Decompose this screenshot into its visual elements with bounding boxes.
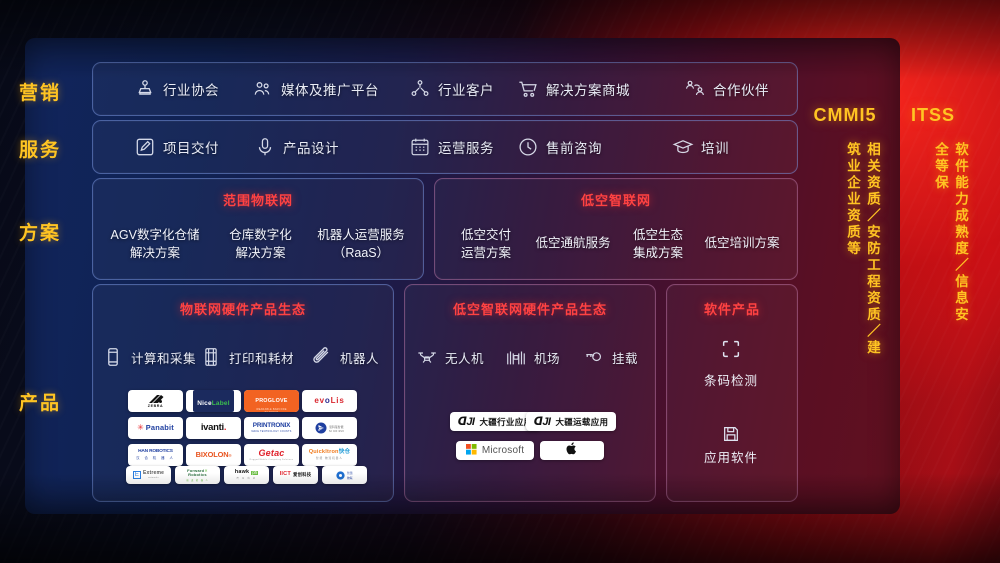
service-item-operation-service[interactable]: 运营服务 (409, 136, 494, 158)
product-item-label: 机器人 (340, 348, 379, 367)
service-item-project-delivery[interactable]: 项目交付 (134, 136, 219, 158)
solution-item[interactable]: 低空生态 集成方案 (620, 226, 696, 262)
partner-logo[interactable]: HAN ROBOTICS汉 合 机 器 人 (128, 444, 183, 466)
certification-title: CMMI5 (808, 105, 882, 126)
partner-logo[interactable]: ✳Panabit (128, 417, 183, 439)
partner-logo[interactable]: Forward✕Robotics前 进 机 器 人 (175, 466, 220, 484)
certification-vertical-text: 软件能力成熟度／信息安全等保 (896, 142, 970, 332)
service-item-presale-consulting[interactable]: 售前咨询 (517, 136, 602, 158)
service-item-label: 售前咨询 (546, 137, 602, 157)
shopping-cart-icon (517, 78, 539, 100)
product-group-software: 软件产品 (666, 284, 798, 502)
product-group-title: 低空智联网硬件产品生态 (405, 299, 655, 318)
handshake-icon (684, 78, 706, 100)
solution-group-title: 范围物联网 (93, 190, 423, 209)
airport-icon (505, 346, 527, 368)
partner-logo[interactable]: NiceLabel (186, 390, 241, 412)
microsoft-label: Microsoft (482, 445, 524, 456)
partner-logo[interactable]: Quickltron快仓智能 物流机器人 (302, 444, 357, 466)
product-item-robot[interactable]: 机器人 (311, 346, 379, 368)
solution-group-title: 低空智联网 (435, 190, 797, 209)
svg-text:CS: CS (318, 426, 324, 431)
marketing-item-label: 媒体及推广平台 (281, 79, 379, 99)
marketing-item-label: 合作伙伴 (713, 79, 769, 99)
solution-item[interactable]: 低空培训方案 (696, 234, 788, 252)
printer-icon (200, 346, 222, 368)
product-item-drone[interactable]: 无人机 (416, 346, 484, 368)
clock-icon (517, 136, 539, 158)
product-group-title: 软件产品 (667, 299, 797, 318)
service-item-label: 运营服务 (438, 137, 494, 157)
mobile-device-icon (102, 346, 124, 368)
marketing-item-partner[interactable]: 合作伙伴 (684, 78, 769, 100)
certification-vertical-text: 相关资质／安防工程资质／建筑业企业资质等 (808, 142, 882, 372)
partner-pill-apple[interactable] (540, 441, 604, 460)
floppy-disk-icon (666, 424, 796, 444)
partner-logo[interactable]: EExtremenetworks (126, 466, 171, 484)
partner-logo[interactable]: evoLis (302, 390, 357, 412)
product-item-payload[interactable]: 挂载 (583, 346, 638, 368)
service-item-label: 项目交付 (163, 137, 219, 157)
solution-item[interactable]: 低空通航服务 (527, 234, 619, 252)
org-network-icon (409, 78, 431, 100)
slide-canvas: 营销 服务 方案 产品 行业协会 媒体及推广平台 行业客户 解决方案商城 合作伙… (0, 0, 1000, 563)
partner-logo[interactable]: IICT爱创科技 (273, 466, 318, 484)
partner-pill-label: 大疆行业应用 (480, 416, 533, 428)
product-item-label: 无人机 (445, 348, 484, 367)
partner-logo[interactable]: GetacRugged Mobile Computing Solutions (244, 444, 299, 466)
product-item-label: 计算和采集 (131, 348, 196, 367)
graduation-cap-icon (672, 136, 694, 158)
microphone-icon (254, 136, 276, 158)
payload-icon (583, 346, 605, 368)
partner-pill-microsoft[interactable]: Microsoft (456, 441, 534, 460)
product-group-title: 物联网硬件产品生态 (93, 299, 393, 318)
partner-logo[interactable]: BIXOLON® (186, 444, 241, 466)
software-item-barcode-detection[interactable]: 条码检测 (666, 370, 796, 389)
partner-logo[interactable]: hawkph鹰 派 科 技 (224, 466, 269, 484)
dji-logo: ᗡJI (458, 415, 475, 428)
barcode-scan-frame-icon (666, 338, 796, 360)
solution-item[interactable]: 低空交付 运营方案 (446, 226, 526, 262)
partner-logo[interactable]: 智慧物联 (322, 466, 367, 484)
drone-icon (416, 346, 438, 368)
marketing-item-media-platform[interactable]: 媒体及推广平台 (252, 78, 379, 100)
calendar-icon (409, 136, 431, 158)
certification-title: ITSS (896, 105, 970, 126)
partner-logo[interactable]: ZEBRA (128, 390, 183, 412)
paperclip-icon (311, 346, 333, 368)
marketing-item-label: 行业协会 (163, 79, 219, 99)
service-item-product-design[interactable]: 产品设计 (254, 136, 339, 158)
solution-item[interactable]: 仓库数字化 解决方案 (213, 226, 308, 262)
marketing-item-industry-association[interactable]: 行业协会 (134, 78, 219, 100)
category-label-service: 服务 (0, 135, 80, 162)
category-label-solution: 方案 (0, 218, 80, 245)
marketing-item-label: 行业客户 (438, 79, 494, 99)
apple-logo-icon (566, 442, 578, 460)
marketing-item-label: 解决方案商城 (546, 79, 630, 99)
service-item-training[interactable]: 培训 (672, 136, 729, 158)
product-group-lowaltitude: 低空智联网硬件产品生态 (404, 284, 656, 502)
product-item-label: 打印和耗材 (229, 348, 294, 367)
product-item-print-consumable[interactable]: 打印和耗材 (200, 346, 294, 368)
certification-itss: ITSS 软件能力成熟度／信息安全等保 (896, 0, 970, 563)
partner-pill-dji-transport[interactable]: ᗡJI 大疆运载应用 (526, 412, 616, 431)
people-group-icon (252, 78, 274, 100)
service-item-label: 培训 (701, 137, 729, 157)
partner-logo[interactable]: ivanti. (186, 417, 241, 439)
podium-speaker-icon (134, 78, 156, 100)
partner-pill-label: 大疆运载应用 (556, 416, 609, 428)
product-item-label: 挂载 (612, 348, 638, 367)
marketing-item-industry-customer[interactable]: 行业客户 (409, 78, 494, 100)
solution-item[interactable]: 机器人运营服务 （RaaS） (306, 226, 416, 262)
certification-cmmi5: CMMI5 相关资质／安防工程资质／建筑业企业资质等 (808, 0, 882, 563)
software-item-application-software[interactable]: 应用软件 (666, 447, 796, 466)
service-item-label: 产品设计 (283, 137, 339, 157)
category-label-marketing: 营销 (0, 78, 80, 105)
pencil-square-icon (134, 136, 156, 158)
product-item-label: 机场 (534, 348, 560, 367)
dji-logo: ᗡJI (534, 415, 551, 428)
marketing-item-solution-mall[interactable]: 解决方案商城 (517, 78, 630, 100)
partner-logo[interactable]: PROGLOVEWEARABLE BARCODE SCANNER (244, 390, 299, 412)
solution-item[interactable]: AGV数字化仓储 解决方案 (100, 226, 210, 262)
category-label-product: 产品 (0, 388, 80, 415)
microsoft-logo-icon (466, 442, 477, 460)
partner-logo[interactable]: CS思科瑞智能SI CO RUI (302, 417, 357, 439)
partner-logo[interactable]: PRINTRONIXMAKE TECHNOLOGY COUNTS (244, 417, 299, 439)
product-item-airport[interactable]: 机场 (505, 346, 560, 368)
product-item-compute-capture[interactable]: 计算和采集 (102, 346, 196, 368)
